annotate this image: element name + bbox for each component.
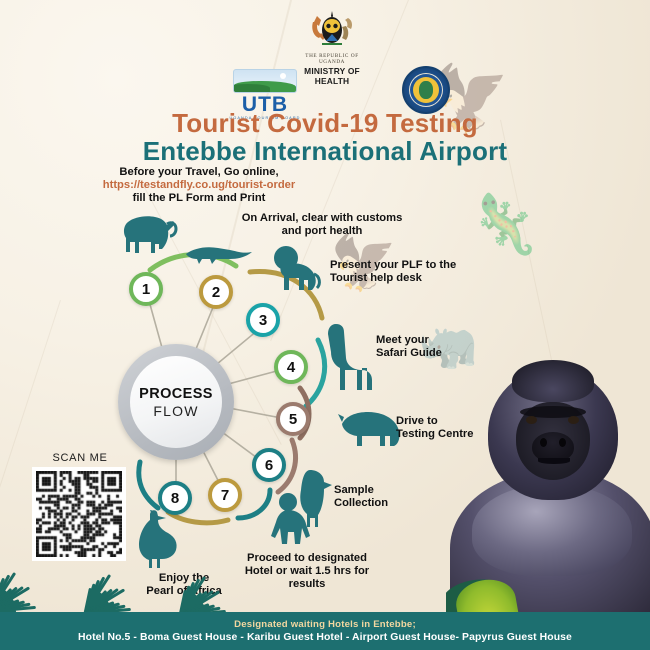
step-node-5-label: 5 bbox=[289, 411, 297, 428]
rhino-silhouette-icon bbox=[338, 406, 402, 448]
step-node-1-label: 1 bbox=[142, 281, 150, 298]
footer-line-1: Designated waiting Hotels in Entebbe; bbox=[234, 619, 416, 630]
step-4-caption-line-1: Meet your bbox=[376, 334, 526, 347]
gorilla-mouth bbox=[538, 458, 570, 464]
step-node-8[interactable]: 8 bbox=[158, 481, 192, 515]
footer-banner: Designated waiting Hotels in Entebbe; Ho… bbox=[0, 612, 650, 650]
ghost-lizard: 🦎 bbox=[468, 196, 540, 254]
gorilla-nostril-left bbox=[540, 438, 547, 447]
step-6-caption: Sample Collection bbox=[334, 484, 454, 510]
page-title-line-1: Tourist Covid-19 Testing bbox=[0, 108, 650, 139]
page-title-line-2: Entebbe International Airport bbox=[0, 136, 650, 167]
step-node-5[interactable]: 5 bbox=[276, 402, 310, 436]
qr-code-image[interactable] bbox=[32, 467, 126, 561]
step-3-caption-line-1: Present your PLF to the bbox=[330, 259, 510, 272]
step-node-6[interactable]: 6 bbox=[252, 448, 286, 482]
step-3-caption-line-2: Tourist help desk bbox=[330, 272, 510, 285]
step-node-2-label: 2 bbox=[212, 284, 220, 301]
coat-caption-ministry: MINISTRY OF HEALTH bbox=[302, 66, 362, 86]
poster-canvas: 🦅 🦅 🦎 🦏 THE REPUBLIC OF UGANDA MINISTRY … bbox=[0, 0, 650, 650]
palm-fronds-decoration bbox=[0, 550, 360, 614]
step-1-url-link[interactable]: https://testandfly.co.ug/tourist-order bbox=[74, 179, 324, 192]
gorilla-eye-right bbox=[568, 416, 579, 424]
step-2-caption: On Arrival, clear with customs and port … bbox=[222, 212, 422, 238]
gorilla-nostril-right bbox=[559, 438, 566, 447]
coat-caption-republic: THE REPUBLIC OF UGANDA bbox=[302, 53, 362, 65]
qr-code-canvas[interactable] bbox=[36, 471, 122, 557]
coat-of-arms-icon bbox=[308, 6, 356, 52]
step-node-6-label: 6 bbox=[265, 457, 273, 474]
step-node-2[interactable]: 2 bbox=[199, 275, 233, 309]
step-2-caption-line-1: On Arrival, clear with customs bbox=[222, 212, 422, 225]
utb-logo-mark bbox=[233, 69, 297, 93]
crocodile-silhouette-icon bbox=[184, 238, 254, 266]
gorilla-crest bbox=[512, 360, 594, 402]
auto-seal-badge bbox=[402, 66, 450, 114]
gorilla-eye-left bbox=[526, 416, 537, 424]
lion-silhouette-icon bbox=[268, 244, 322, 292]
elephant-silhouette-icon bbox=[112, 208, 186, 258]
giraffe-silhouette-icon bbox=[320, 322, 376, 392]
process-flow-hub: PROCESS FLOW bbox=[118, 344, 234, 460]
step-node-8-label: 8 bbox=[171, 490, 179, 507]
hub-label-flow: FLOW bbox=[153, 403, 198, 419]
qr-scan-me-label: SCAN ME bbox=[32, 452, 128, 464]
process-flow-hub-face: PROCESS FLOW bbox=[130, 356, 222, 448]
step-node-3-label: 3 bbox=[259, 312, 267, 329]
step-6-caption-line-1: Sample bbox=[334, 484, 454, 497]
step-node-3[interactable]: 3 bbox=[246, 303, 280, 337]
step-1-caption: Before your Travel, Go online, https://t… bbox=[74, 166, 324, 206]
hub-label-process: PROCESS bbox=[139, 386, 213, 402]
step-1-caption-line-3: fill the PL Form and Print bbox=[74, 192, 324, 205]
step-1-caption-line-1: Before your Travel, Go online, bbox=[74, 166, 324, 179]
qr-code-block: SCAN ME bbox=[32, 452, 128, 561]
step-2-caption-line-2: and port health bbox=[222, 225, 422, 238]
gorilla-photo bbox=[446, 358, 650, 620]
footer-line-2: Hotel No.5 - Boma Guest House - Karibu G… bbox=[78, 632, 572, 643]
step-node-7-label: 7 bbox=[221, 487, 229, 504]
step-node-4-label: 4 bbox=[287, 359, 295, 376]
step-3-caption: Present your PLF to the Tourist help des… bbox=[330, 259, 510, 285]
auto-seal-globe-icon bbox=[413, 77, 439, 103]
utb-hill-shape-2 bbox=[233, 84, 270, 92]
step-node-4[interactable]: 4 bbox=[274, 350, 308, 384]
step-6-caption-line-2: Collection bbox=[334, 497, 454, 510]
utb-sun-icon bbox=[280, 73, 286, 79]
chimpanzee-silhouette-icon bbox=[268, 492, 324, 548]
step-node-1[interactable]: 1 bbox=[129, 272, 163, 306]
step-4-caption: Meet your Safari Guide bbox=[376, 334, 526, 360]
step-node-7[interactable]: 7 bbox=[208, 478, 242, 512]
uganda-coat-of-arms: THE REPUBLIC OF UGANDA MINISTRY OF HEALT… bbox=[302, 6, 362, 86]
